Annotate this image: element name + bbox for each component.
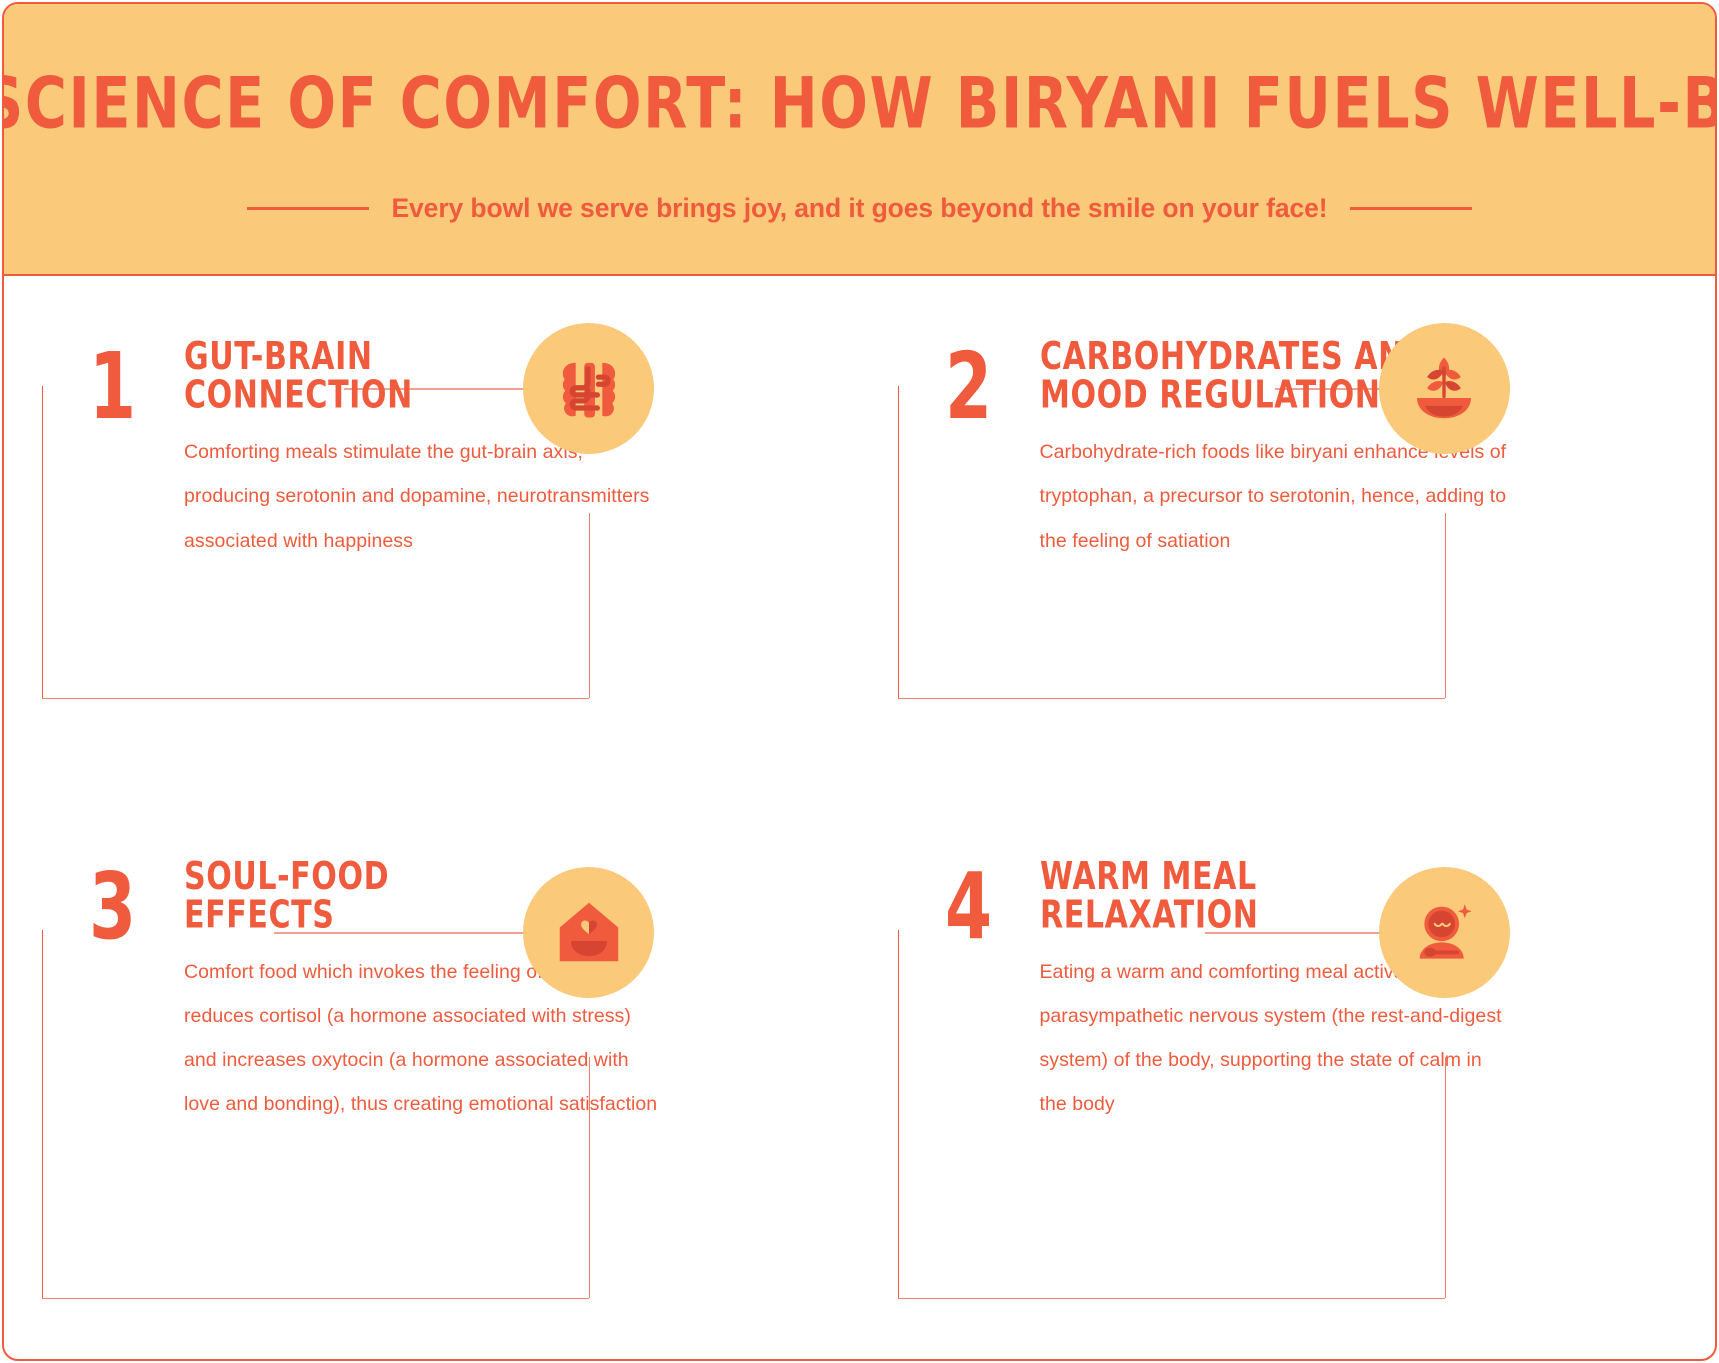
card-number: 2 bbox=[945, 340, 992, 432]
subtitle-rule-right bbox=[1350, 207, 1472, 210]
home-heart-bowl-icon bbox=[553, 896, 625, 968]
meditating-person-icon bbox=[1407, 895, 1481, 969]
card-warm-meal-relaxation: 4 WARM MEAL RELAXATION Eating a warm and… bbox=[860, 820, 1716, 1362]
card-icon-badge bbox=[523, 867, 654, 998]
header-band: THE SCIENCE OF COMFORT: HOW BIRYANI FUEL… bbox=[4, 4, 1715, 276]
card-frame-bottom bbox=[42, 698, 589, 699]
card-number: 4 bbox=[945, 860, 992, 952]
page-title: THE SCIENCE OF COMFORT: HOW BIRYANI FUEL… bbox=[2, 63, 1717, 145]
subtitle-row: Every bowl we serve brings joy, and it g… bbox=[4, 193, 1715, 224]
card-frame-bottom bbox=[898, 1298, 1445, 1299]
card-frame-left bbox=[898, 930, 899, 1298]
card-icon-badge bbox=[1379, 867, 1510, 998]
brain-gut-icon bbox=[551, 351, 627, 427]
card-frame-left bbox=[898, 386, 899, 698]
card-carbohydrates-mood: 2 CARBOHYDRATES AND MOOD REGULATION Carb… bbox=[860, 276, 1716, 820]
card-frame-bottom bbox=[898, 698, 1445, 699]
card-number: 1 bbox=[89, 340, 136, 432]
card-heading: SOUL-FOOD EFFECTS bbox=[184, 858, 389, 935]
card-grid: 1 GUT-BRAIN CONNECTION Comforting meals … bbox=[4, 276, 1715, 1361]
card-frame-bottom bbox=[42, 1298, 589, 1299]
page-subtitle: Every bowl we serve brings joy, and it g… bbox=[391, 193, 1327, 224]
card-frame-left bbox=[42, 930, 43, 1298]
card-heading: WARM MEAL RELAXATION bbox=[1040, 858, 1259, 935]
infographic-page: THE SCIENCE OF COMFORT: HOW BIRYANI FUEL… bbox=[2, 2, 1717, 1361]
subtitle-rule-left bbox=[247, 207, 369, 210]
card-heading: GUT-BRAIN CONNECTION bbox=[184, 338, 413, 415]
card-heading: CARBOHYDRATES AND MOOD REGULATION bbox=[1040, 338, 1429, 415]
card-gut-brain-connection: 1 GUT-BRAIN CONNECTION Comforting meals … bbox=[4, 276, 860, 820]
wheat-bowl-icon bbox=[1408, 353, 1480, 425]
card-soul-food-effects: 3 SOUL-FOOD EFFECTS Comfort food which i… bbox=[4, 820, 860, 1362]
card-icon-badge bbox=[1379, 323, 1510, 454]
card-frame-left bbox=[42, 386, 43, 698]
card-number: 3 bbox=[89, 860, 136, 952]
card-icon-badge bbox=[523, 323, 654, 454]
